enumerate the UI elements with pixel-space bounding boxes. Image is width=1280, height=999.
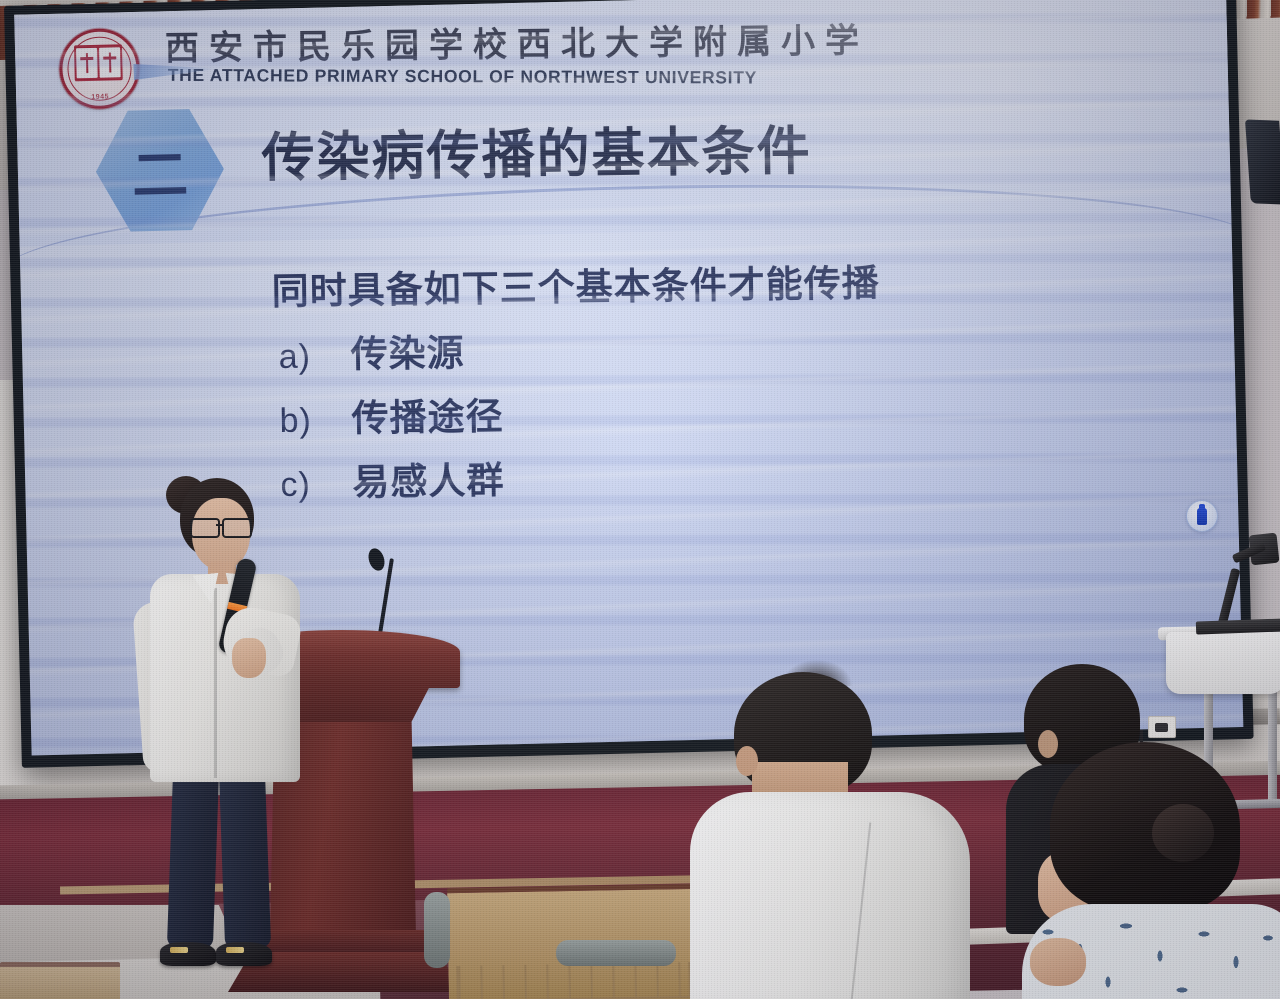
- attendee-torso: [690, 792, 970, 999]
- school-name-cn: 西安市民乐园学校西北大学附属小学: [165, 13, 870, 70]
- presenter-torso: [150, 574, 300, 782]
- attendee-ear: [736, 746, 758, 776]
- shirt-placket: [214, 588, 217, 778]
- seat-armrest: [556, 940, 676, 966]
- section-number: 二: [94, 106, 225, 235]
- list-text: 传染源: [350, 322, 465, 378]
- section-badge: 二: [94, 106, 225, 235]
- list-item: b) 传播途径: [279, 379, 1034, 444]
- seal-emblem: [74, 44, 123, 81]
- shoe-left: [160, 942, 216, 966]
- lens-right: [222, 518, 252, 538]
- presenter-legs: [168, 770, 280, 960]
- slide-body: 同时具备如下三个基本条件才能传播 a) 传染源 b) 传播途径 c) 易感人群: [271, 251, 1035, 518]
- wall-speaker-icon: [1245, 120, 1280, 205]
- attendee-hair-bun: [1152, 804, 1214, 862]
- list-item: c) 易感人群: [280, 443, 1035, 508]
- seat-armrest: [424, 892, 450, 968]
- bench-seat: [0, 962, 120, 999]
- classroom-presentation-photo: 1945 西安市民乐园学校西北大学附属小学 THE ATTACHED PRIMA…: [0, 0, 1280, 999]
- seat-book-basket: [456, 962, 691, 999]
- shoe-buckle-icon: [170, 947, 188, 953]
- lens-left: [190, 518, 220, 538]
- list-item: [690, 672, 990, 999]
- shoe-right: [216, 942, 272, 966]
- list-item: a) 传染源: [278, 315, 1033, 380]
- presenter: [128, 470, 358, 980]
- pen-glyph: [1197, 508, 1207, 525]
- list-text: 易感人群: [352, 450, 505, 506]
- leg-left: [167, 769, 219, 948]
- slide-lead-line: 同时具备如下三个基本条件才能传播: [271, 251, 1032, 316]
- eyeglasses-icon: [190, 518, 252, 535]
- list-marker: b): [279, 401, 322, 441]
- pen-icon[interactable]: [1186, 500, 1218, 532]
- list-item: [1032, 742, 1280, 999]
- attendee-hand: [1030, 938, 1086, 986]
- university-seal-icon: 1945: [59, 28, 141, 110]
- list-marker: a): [278, 337, 321, 377]
- list-text: 传播途径: [351, 386, 504, 442]
- hexagon-icon: 二: [94, 106, 225, 235]
- shoe-buckle-icon: [226, 947, 244, 953]
- hand-right: [232, 638, 266, 678]
- leg-right: [219, 769, 271, 948]
- school-name-en: THE ATTACHED PRIMARY SCHOOL OF NORTHWEST…: [168, 65, 757, 89]
- slide-title: 传染病传播的基本条件: [261, 109, 812, 192]
- seal-year: 1945: [63, 93, 137, 102]
